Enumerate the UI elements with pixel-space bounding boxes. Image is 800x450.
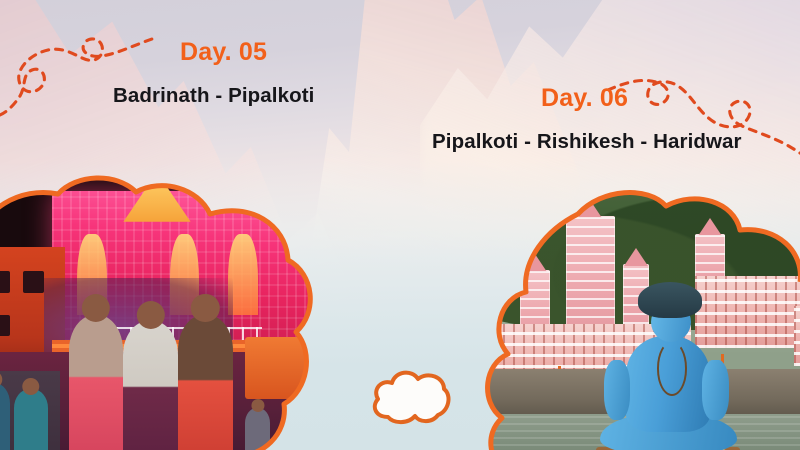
day-06-title: Day. 06 [541, 86, 742, 111]
cloud-shape-icon [370, 367, 452, 425]
itinerary-slide: Day. 05 Badrinath - Pipalkoti Day. 06 Pi… [0, 0, 800, 450]
day-06-text-block: Day. 06 Pipalkoti - Rishikesh - Haridwar [432, 86, 742, 153]
day-05-route: Badrinath - Pipalkoti [113, 86, 314, 107]
day-05-title: Day. 05 [180, 40, 314, 65]
day-05-photo [0, 176, 336, 450]
day-06-photo [482, 184, 800, 450]
rishikesh-scene [482, 174, 800, 450]
badrinath-scene [0, 166, 346, 450]
day-06-route: Pipalkoti - Rishikesh - Haridwar [432, 132, 742, 153]
day-05-text-block: Day. 05 Badrinath - Pipalkoti [113, 40, 314, 107]
